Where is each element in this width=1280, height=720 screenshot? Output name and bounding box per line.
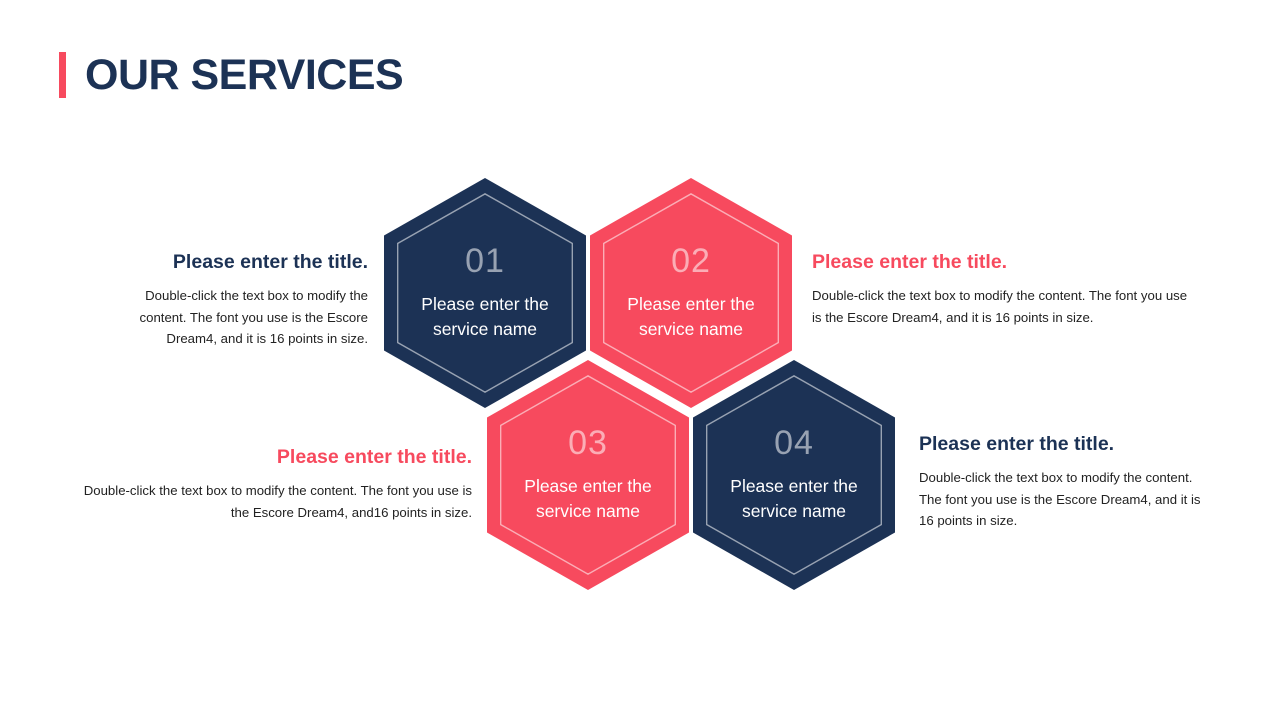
page-title: OUR SERVICES: [85, 54, 403, 97]
hexagon-card-01[interactable]: 01 Please enter theservice name: [384, 178, 586, 408]
hexagon-number-03: 03: [568, 426, 608, 460]
hexagon-number-01: 01: [465, 244, 505, 278]
text-block-body-01[interactable]: Double-click the text box to modify the …: [108, 285, 368, 349]
text-block-title-03[interactable]: Please enter the title.: [80, 445, 472, 469]
text-block-title-01[interactable]: Please enter the title.: [108, 250, 368, 274]
text-block-03: Please enter the title. Double-click the…: [80, 445, 472, 523]
hexagon-label-02: Please enter theservice name: [627, 292, 754, 342]
text-block-02: Please enter the title. Double-click the…: [812, 250, 1194, 328]
text-block-title-02[interactable]: Please enter the title.: [812, 250, 1194, 274]
hexagon-label-01: Please enter theservice name: [421, 292, 548, 342]
hexagon-label-04: Please enter theservice name: [730, 474, 857, 524]
text-block-body-03[interactable]: Double-click the text box to modify the …: [80, 480, 472, 523]
slide-header: OUR SERVICES: [59, 52, 403, 98]
hexagon-card-02[interactable]: 02 Please enter theservice name: [590, 178, 792, 408]
hexagon-label-03: Please enter theservice name: [524, 474, 651, 524]
accent-bar-icon: [59, 52, 66, 98]
text-block-title-04[interactable]: Please enter the title.: [919, 432, 1201, 456]
hexagon-number-04: 04: [774, 426, 814, 460]
slide-canvas: OUR SERVICES 01 Please enter theservice …: [0, 0, 1280, 720]
text-block-04: Please enter the title. Double-click the…: [919, 432, 1201, 532]
text-block-body-04[interactable]: Double-click the text box to modify the …: [919, 467, 1201, 531]
hexagon-number-02: 02: [671, 244, 711, 278]
text-block-01: Please enter the title. Double-click the…: [108, 250, 368, 350]
text-block-body-02[interactable]: Double-click the text box to modify the …: [812, 285, 1194, 328]
hexagon-cluster: 01 Please enter theservice name 02 Pleas…: [384, 178, 904, 594]
